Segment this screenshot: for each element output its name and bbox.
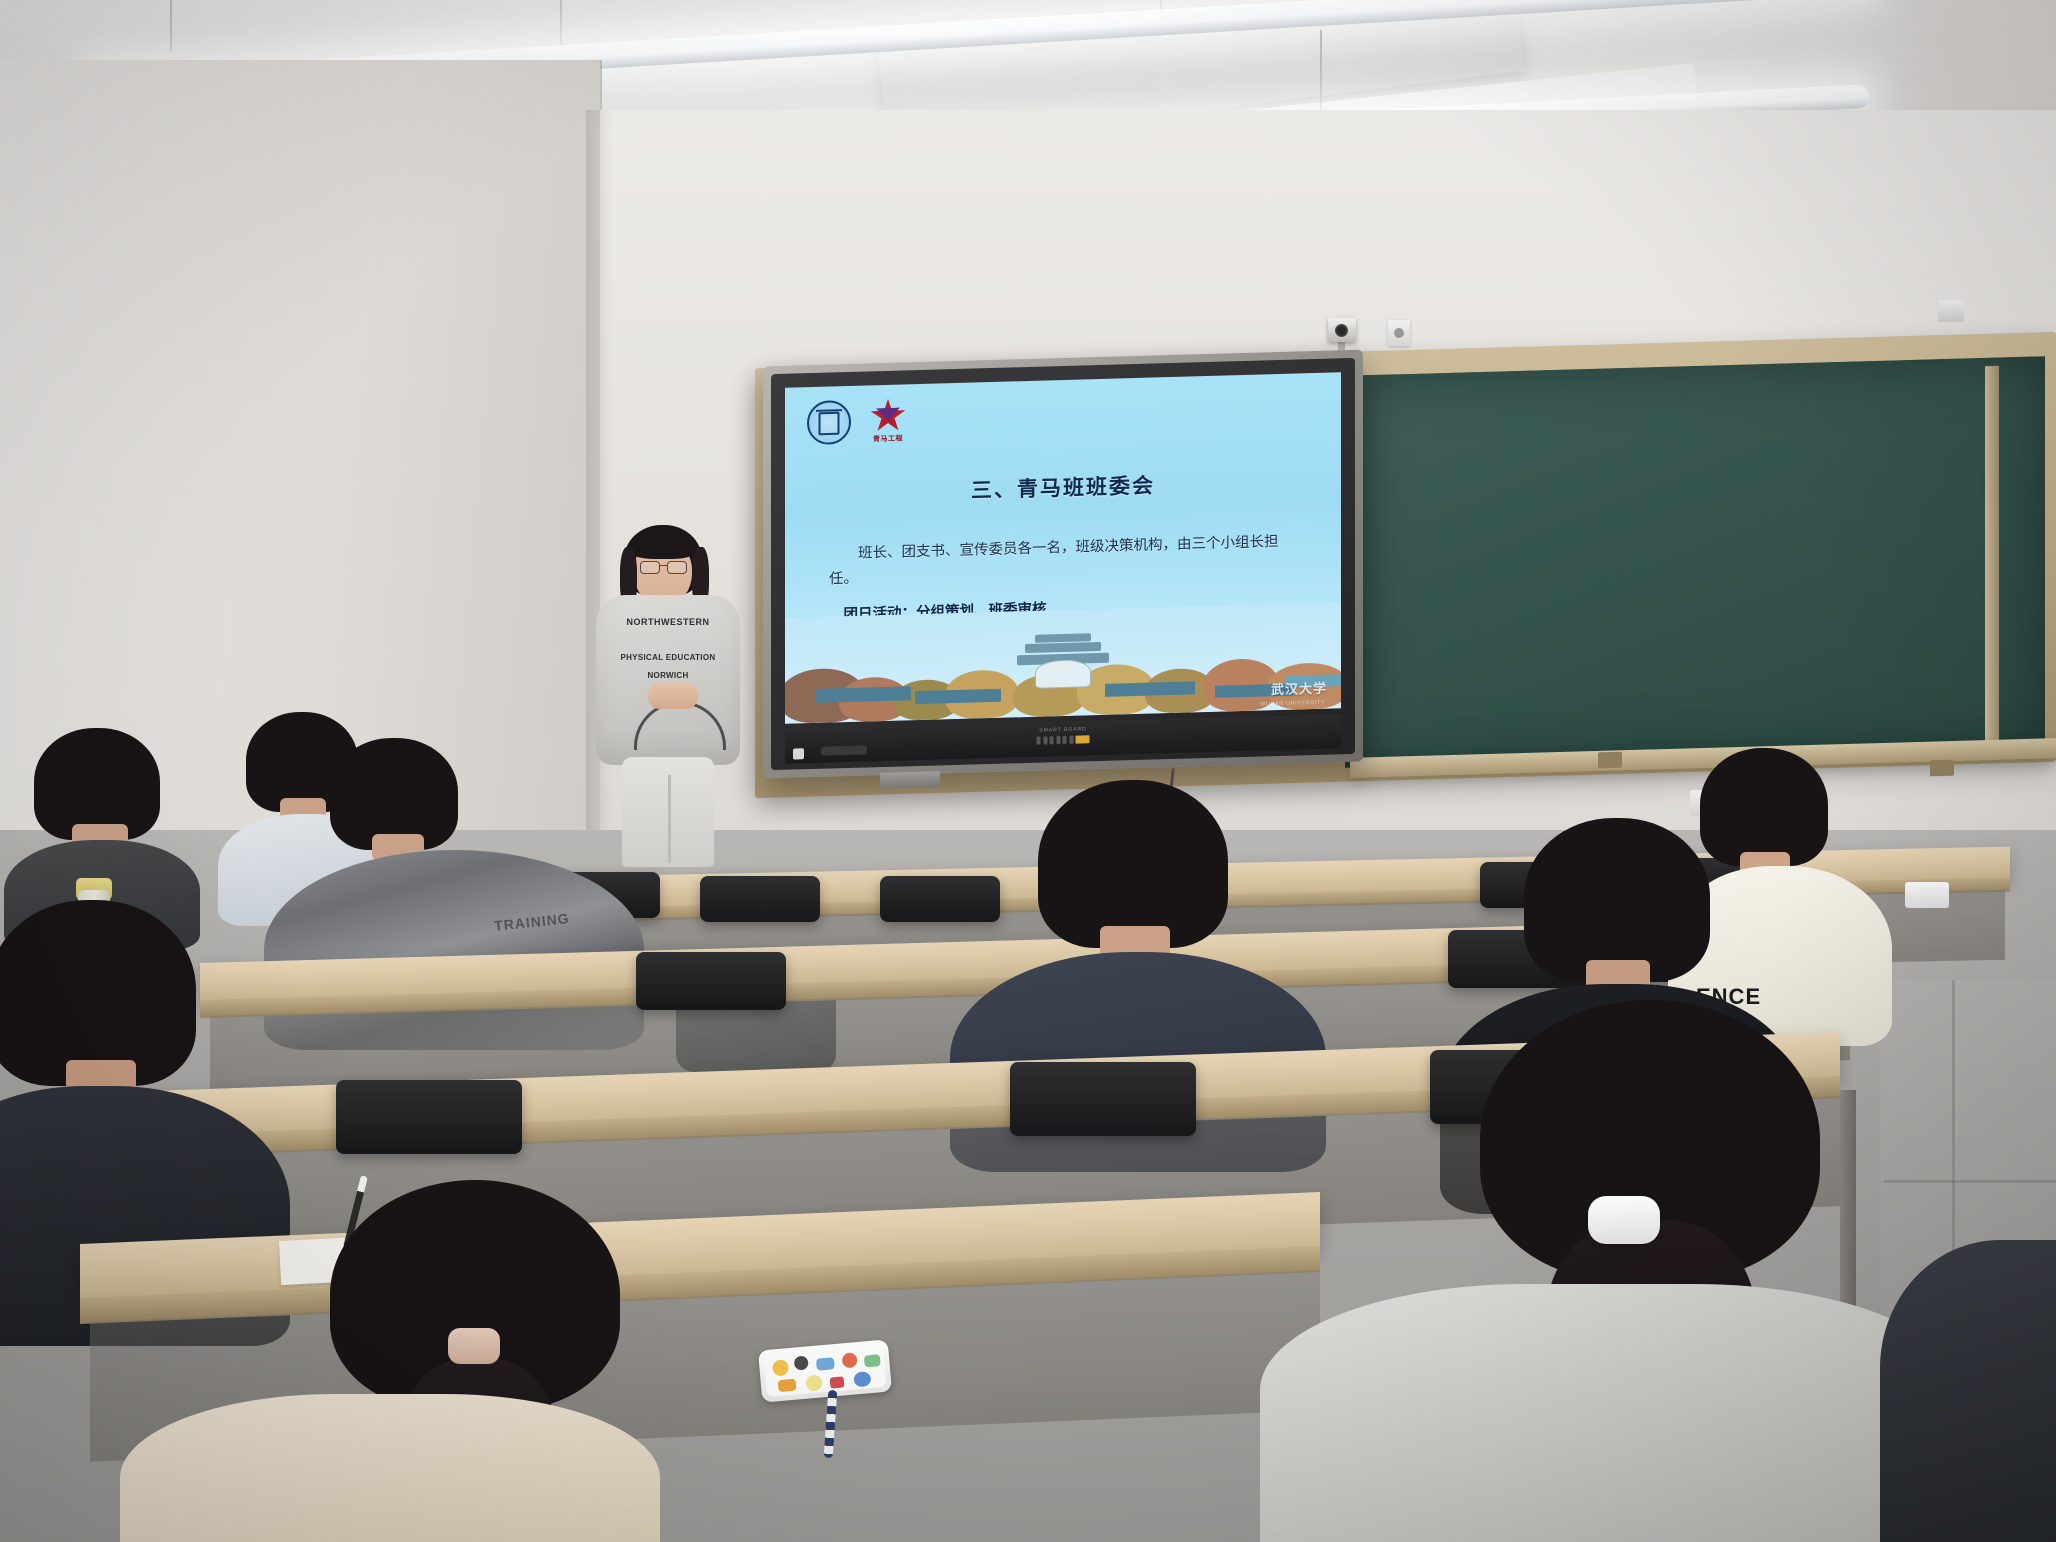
qingma-star-icon: 青马工程	[865, 398, 911, 444]
hair-scrunchie	[448, 1328, 500, 1364]
photo-watermark: 武汉大学	[1271, 678, 1327, 699]
light-suspension-wire	[170, 0, 172, 52]
screen-port-icon	[793, 748, 804, 759]
chair[interactable]	[636, 952, 786, 1010]
trouser-seam	[668, 775, 671, 863]
student-right-foreground	[1880, 1180, 2056, 1542]
wall-camera-icon	[1328, 318, 1356, 342]
classroom-scene: 青马工程 三、青马班班委会 班长、团支书、宣传委员各一名，班级决策机构，由三个小…	[0, 0, 2056, 1542]
sweatshirt-text-top: NORTHWESTERN	[612, 617, 724, 627]
wall-socket	[1388, 320, 1410, 346]
glasses-icon	[640, 561, 686, 573]
screen-control-bar[interactable]: SMART BOARD	[785, 714, 1341, 764]
chair[interactable]	[336, 1080, 522, 1154]
presenter: NORTHWESTERN PHYSICAL EDUCATION NORWICH	[588, 525, 748, 855]
screen-stand-foot	[880, 771, 940, 789]
sweatshirt-text-bottom: NORWICH	[612, 671, 724, 680]
chair[interactable]	[700, 876, 820, 922]
presenter-fringe	[628, 533, 698, 559]
chair[interactable]	[1010, 1062, 1196, 1136]
tissue-pack	[1905, 882, 1949, 908]
wall-junction-box	[1938, 300, 1964, 322]
screen-knob[interactable]	[821, 745, 867, 755]
power-indicator-icon	[1076, 735, 1090, 743]
light-suspension-wire	[1320, 30, 1322, 110]
chalkboard	[1345, 356, 2045, 768]
presentation-slide: 青马工程 三、青马班班委会 班长、团支书、宣传委员各一名，班级决策机构，由三个小…	[785, 372, 1341, 724]
hair-scrunchie	[1588, 1196, 1660, 1244]
screen-bezel: 青马工程 三、青马班班委会 班长、团支书、宣传委员各一名，班级决策机构，由三个小…	[771, 358, 1355, 770]
sweatshirt-text-mid: PHYSICAL EDUCATION	[612, 653, 724, 662]
slide-footer-photo: 武汉大学 WUHAN UNIVERSITY	[785, 602, 1341, 724]
slide-logo-group: 青马工程	[807, 398, 911, 446]
chalkboard-seam	[1985, 366, 1999, 758]
student-writing	[180, 1180, 740, 1542]
university-emblem-icon	[807, 400, 851, 445]
screen-brand-label: SMART BOARD	[1039, 726, 1087, 733]
smart-board[interactable]: 青马工程 三、青马班班委会 班长、团支书、宣传委员各一名，班级决策机构，由三个小…	[763, 350, 1363, 779]
chalk-tray-clip	[1598, 752, 1622, 769]
slide-body-line-1: 班长、团支书、宣传委员各一名，班级决策机构，由三个小组长担任。	[829, 529, 1305, 593]
chalk-tray-clip	[1930, 760, 1954, 777]
presenter-hands	[648, 683, 698, 709]
qingma-logo-label: 青马工程	[873, 433, 903, 444]
screen-button-row[interactable]	[1037, 735, 1090, 744]
pagoda-building	[1017, 625, 1109, 690]
slide-title: 三、青马班班委会	[785, 464, 1341, 510]
